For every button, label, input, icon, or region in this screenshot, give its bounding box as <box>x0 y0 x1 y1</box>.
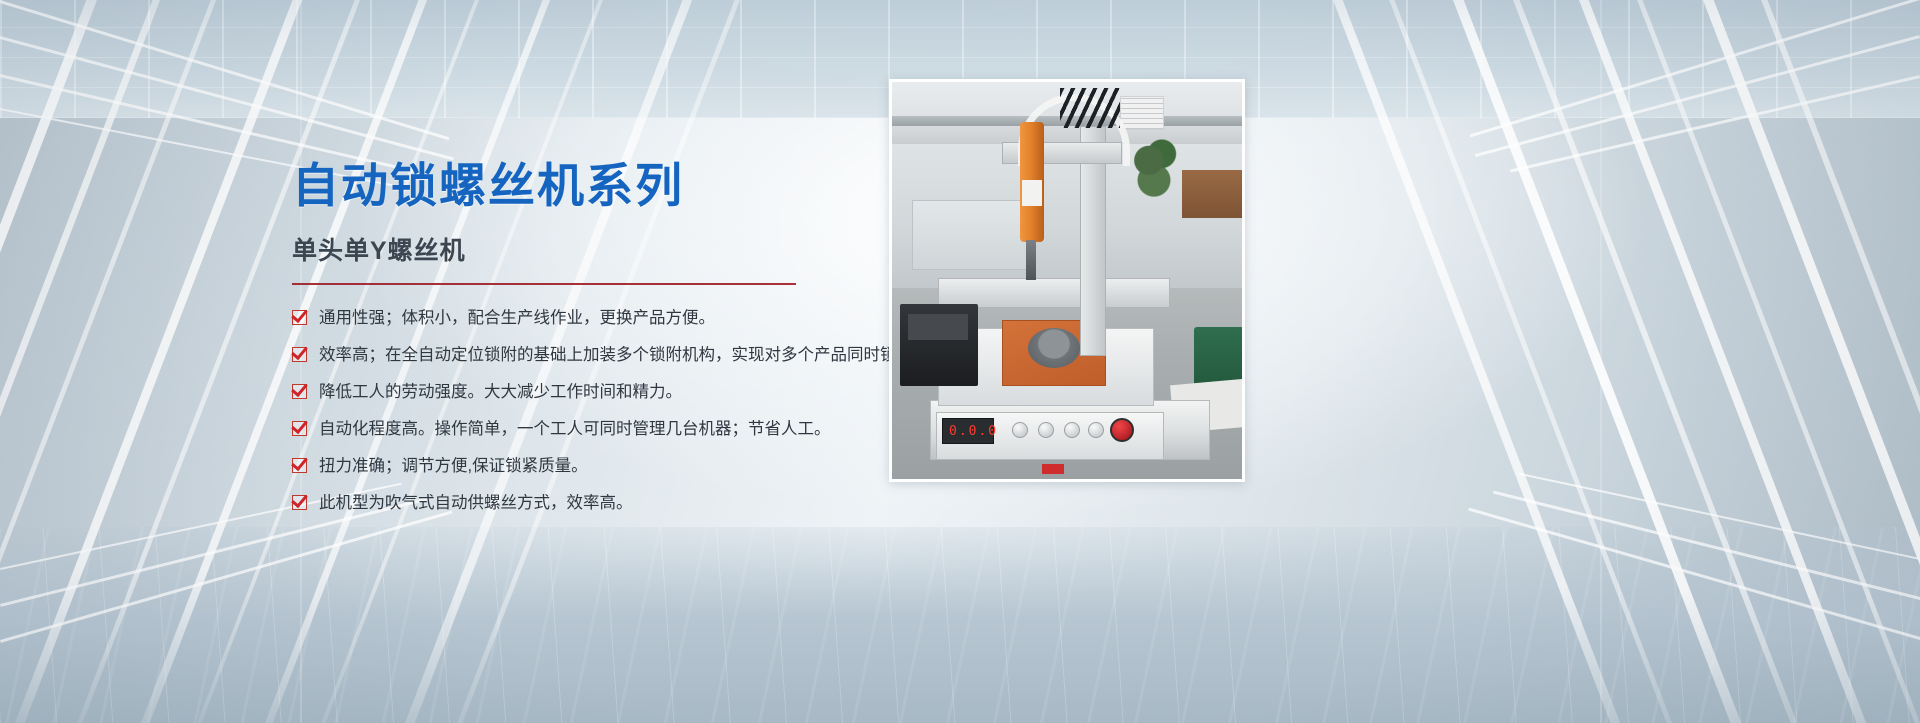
feature-list: 通用性强；体积小，配合生产线作业，更换产品方便。 效率高；在全自动定位锁附的基础… <box>292 307 892 516</box>
feature-text: 此机型为吹气式自动供螺丝方式，效率高。 <box>319 492 633 516</box>
feature-text: 效率高；在全自动定位锁附的基础上加装多个锁附机构，实现对多个产品同时锁附。 <box>319 344 930 368</box>
page-subtitle: 单头单Y螺丝机 <box>292 231 892 267</box>
product-banner: 自动锁螺丝机系列 单头单Y螺丝机 通用性强；体积小，配合生产线作业，更换产品方便… <box>0 0 1920 723</box>
background-shelf <box>912 200 1032 270</box>
wall-sign <box>1120 96 1164 130</box>
banner-content: 自动锁螺丝机系列 单头单Y螺丝机 通用性强；体积小，配合生产线作业，更换产品方便… <box>292 158 892 529</box>
screw-feeder <box>900 304 978 386</box>
list-item: 降低工人的劳动强度。大大减少工作时间和精力。 <box>292 381 892 405</box>
check-box-icon <box>292 495 307 510</box>
screwdriver-bit <box>1026 240 1036 280</box>
emergency-stop-button[interactable] <box>1110 418 1134 442</box>
product-photo-image: 0.0.0 <box>892 82 1242 479</box>
power-switch[interactable] <box>1042 464 1064 474</box>
title-divider <box>292 283 796 285</box>
check-box-icon <box>292 384 307 399</box>
list-item: 效率高；在全自动定位锁附的基础上加装多个锁附机构，实现对多个产品同时锁附。 <box>292 344 892 368</box>
product-photo: 0.0.0 <box>889 79 1245 482</box>
check-box-icon <box>292 347 307 362</box>
electric-screwdriver <box>1020 122 1044 242</box>
digital-display: 0.0.0 <box>942 418 994 444</box>
check-box-icon <box>292 421 307 436</box>
cable-bundle <box>1060 88 1120 128</box>
feature-text: 自动化程度高。操作简单，一个工人可同时管理几台机器；节省人工。 <box>319 418 831 442</box>
feature-text: 通用性强；体积小，配合生产线作业，更换产品方便。 <box>319 307 715 331</box>
plant <box>1128 134 1180 200</box>
list-item: 此机型为吹气式自动供螺丝方式，效率高。 <box>292 492 892 516</box>
list-item: 自动化程度高。操作简单，一个工人可同时管理几台机器；节省人工。 <box>292 418 892 442</box>
check-box-icon <box>292 458 307 473</box>
panel-knob[interactable] <box>1064 422 1080 438</box>
panel-knob[interactable] <box>1038 422 1054 438</box>
check-box-icon <box>292 310 307 325</box>
panel-knob[interactable] <box>1012 422 1028 438</box>
cardboard-box <box>1182 170 1242 218</box>
list-item: 通用性强；体积小，配合生产线作业，更换产品方便。 <box>292 307 892 331</box>
panel-knob[interactable] <box>1088 422 1104 438</box>
floor-texture <box>0 527 1920 723</box>
feature-text: 降低工人的劳动强度。大大减少工作时间和精力。 <box>319 381 682 405</box>
list-item: 扭力准确；调节方便,保证锁紧质量。 <box>292 455 892 479</box>
workpiece <box>1028 328 1080 368</box>
display-value: 0.0.0 <box>949 424 998 439</box>
feature-text: 扭力准确；调节方便,保证锁紧质量。 <box>319 455 588 479</box>
page-title: 自动锁螺丝机系列 <box>292 158 892 213</box>
